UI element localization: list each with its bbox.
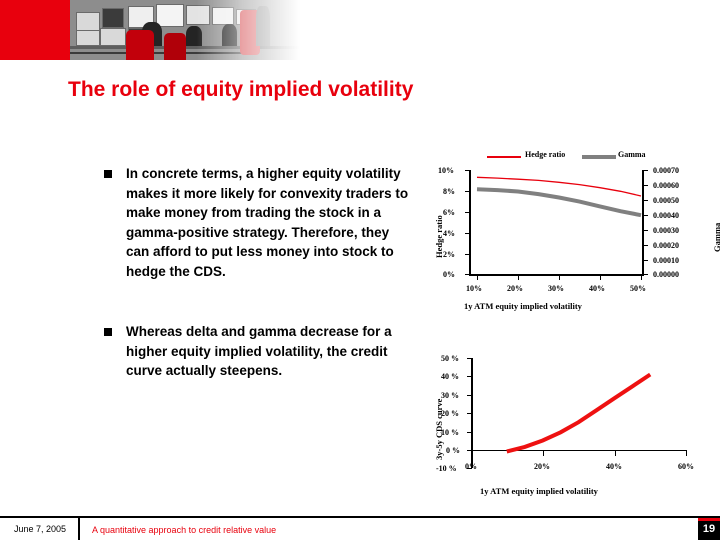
footer-subtitle: A quantitative approach to credit relati… xyxy=(92,525,276,535)
trading-floor-photo xyxy=(70,0,300,60)
y-tick-label: 0 % xyxy=(446,446,460,455)
y-tick-label: 0% xyxy=(443,270,455,279)
y2-tick-label: 0.00040 xyxy=(653,211,679,220)
x-axis-title: 1y ATM equity implied volatility xyxy=(464,301,582,311)
bullet-text: Whereas delta and gamma decrease for a h… xyxy=(126,324,392,378)
x-axis-line xyxy=(471,450,687,451)
footer-divider xyxy=(0,516,720,518)
header-banner xyxy=(0,0,720,60)
y-tick-label: 40 % xyxy=(441,372,459,381)
y-tick-label: 10% xyxy=(438,166,454,175)
y-tick-label: 2% xyxy=(443,250,455,259)
chart-hedge-ratio-gamma: Hedge ratio Gamma 10% 8% 6% 4% 2% 0% 0.0… xyxy=(424,146,720,321)
bullet-square-icon xyxy=(104,328,112,336)
y2-tick-label: 0.00060 xyxy=(653,181,679,190)
legend-label-hedge-ratio: Hedge ratio xyxy=(525,150,565,159)
page-title: The role of equity implied volatility xyxy=(68,78,413,102)
y2-tick-label: 0.00030 xyxy=(653,226,679,235)
x-axis-line xyxy=(469,274,644,276)
footer-separator xyxy=(78,517,80,540)
x-tick-label: 60% xyxy=(678,462,694,471)
legend-label-gamma: Gamma xyxy=(618,150,646,159)
y-axis-title: Hedge ratio xyxy=(434,215,444,258)
y2-axis-title: Gamma xyxy=(712,223,720,252)
bullet-square-icon xyxy=(104,170,112,178)
series-line-cds-curve xyxy=(507,375,650,452)
x-tick-label: 30% xyxy=(548,284,564,293)
y-tick-label: 8% xyxy=(443,187,455,196)
footer-date: June 7, 2005 xyxy=(14,524,66,534)
bullet-list: In concrete terms, a higher equity volat… xyxy=(104,164,414,411)
x-tick-label: 10% xyxy=(466,284,482,293)
x-tick-label: 20% xyxy=(534,462,550,471)
y2-tick-label: 0.00050 xyxy=(653,196,679,205)
banner-red-block xyxy=(0,0,70,60)
x-tick-label: 40% xyxy=(606,462,622,471)
x-axis-title: 1y ATM equity implied volatility xyxy=(480,486,598,496)
y-tick-label: 6% xyxy=(443,208,455,217)
x-tick-label: 20% xyxy=(507,284,523,293)
left-axis-line xyxy=(469,170,471,275)
bullet-text: In concrete terms, a higher equity volat… xyxy=(126,166,408,279)
chart-cds-curve: 50 % 40 % 30 % 20 % 10 % 0 % -10 % 0% 20… xyxy=(424,350,720,505)
series-line-hedge-ratio xyxy=(477,177,641,196)
list-item: Whereas delta and gamma decrease for a h… xyxy=(104,322,414,381)
y-tick-label: 4% xyxy=(443,229,455,238)
legend-swatch-hedge-ratio xyxy=(487,156,521,158)
x-tick-label: 50% xyxy=(630,284,646,293)
y2-tick-label: 0.00070 xyxy=(653,166,679,175)
x-tick-label: 40% xyxy=(589,284,605,293)
y2-tick-label: 0.00010 xyxy=(653,256,679,265)
x-tick-label: 0% xyxy=(465,462,477,471)
y-axis-title: 3y-5y CDS curve xyxy=(434,399,444,460)
series-line-gamma xyxy=(477,189,641,215)
y2-tick-label: 0.00020 xyxy=(653,241,679,250)
page-number: 19 xyxy=(698,523,720,535)
y-tick-label: -10 % xyxy=(436,464,457,473)
chart-plot-area xyxy=(424,350,720,505)
y-tick-label: 50 % xyxy=(441,354,459,363)
list-item: In concrete terms, a higher equity volat… xyxy=(104,164,414,281)
legend-swatch-gamma xyxy=(582,155,616,159)
y2-tick-label: 0.00000 xyxy=(653,270,679,279)
